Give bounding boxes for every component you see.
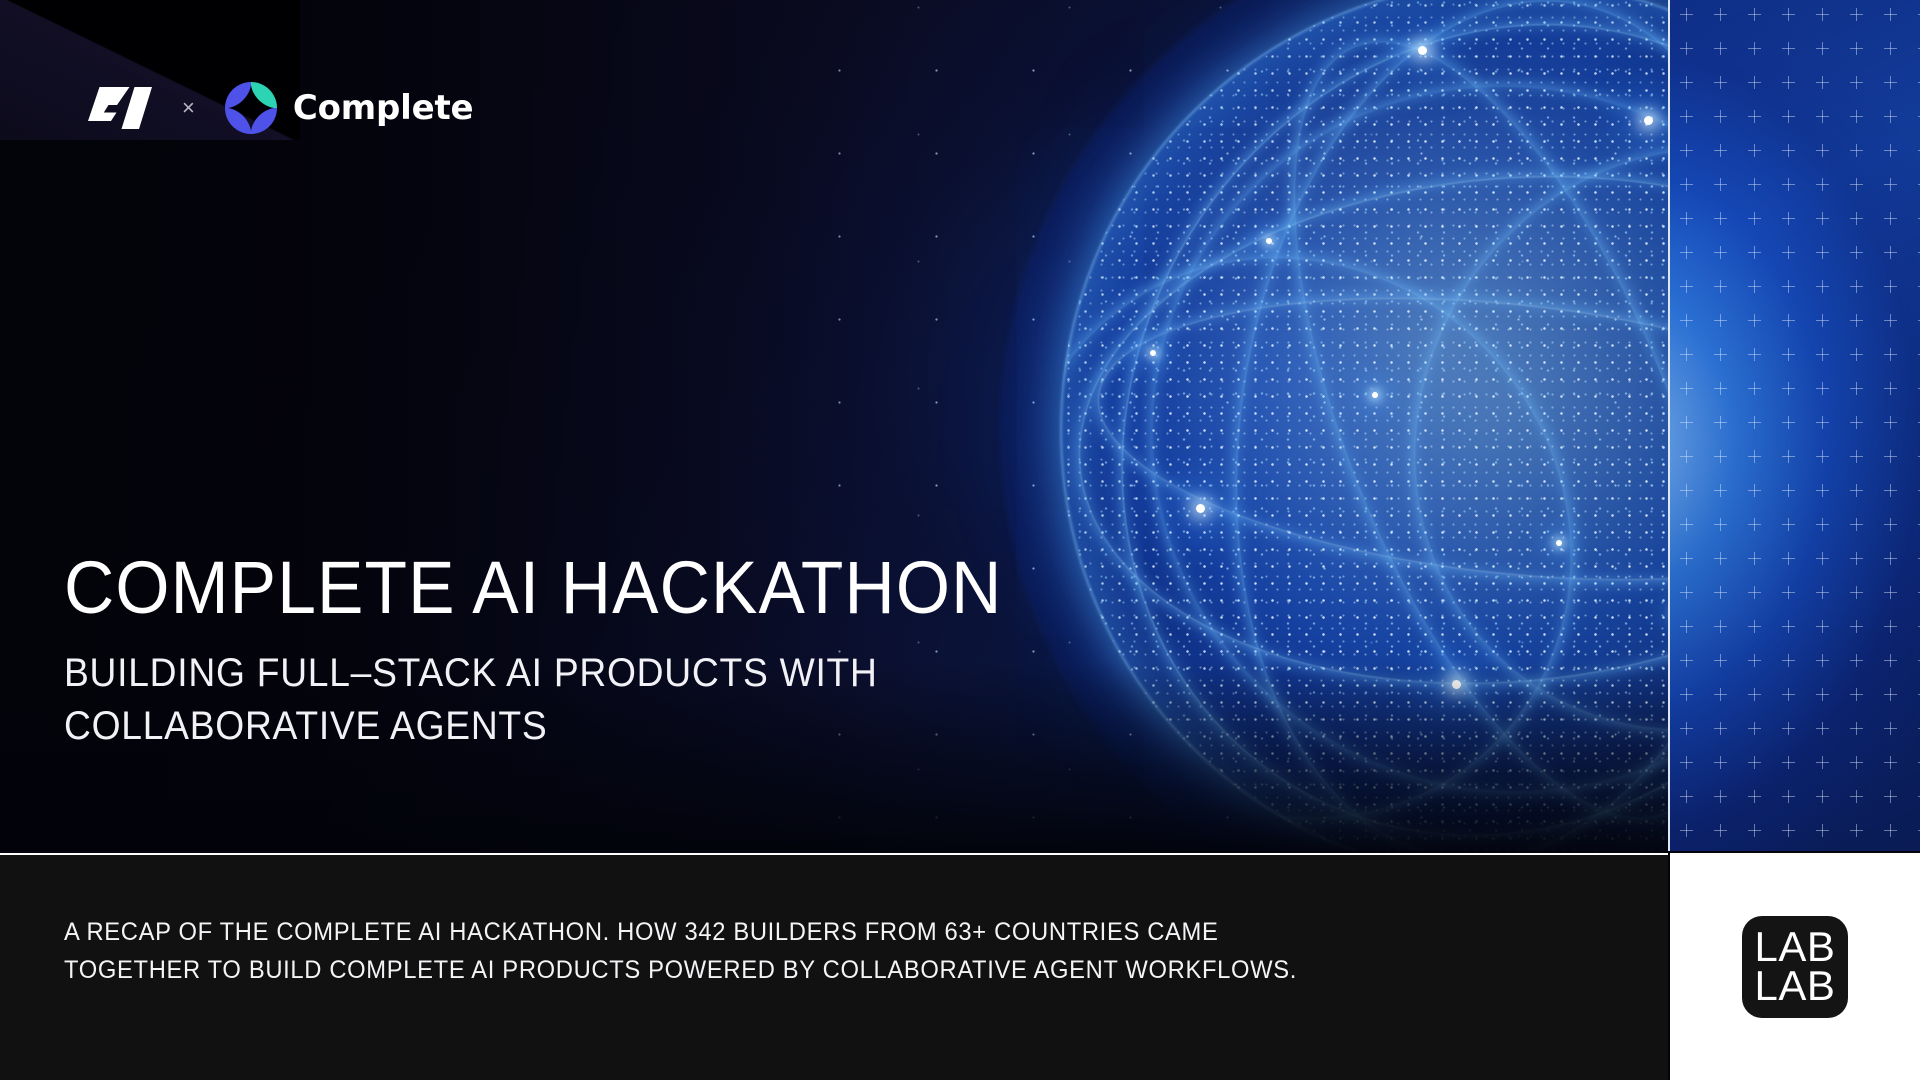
plus-icon (1782, 586, 1795, 599)
plus-icon (1714, 76, 1727, 89)
plus-icon (1748, 178, 1761, 191)
plus-icon (1850, 144, 1863, 157)
plus-icon (1850, 688, 1863, 701)
plus-icon (1714, 416, 1727, 429)
plus-icon (1714, 824, 1727, 837)
plus-icon (1816, 382, 1829, 395)
plus-icon (1714, 654, 1727, 667)
plus-icon (1782, 518, 1795, 531)
plus-icon (1680, 654, 1693, 667)
plus-icon (1884, 348, 1897, 361)
plus-icon (1782, 416, 1795, 429)
plus-icon (1816, 688, 1829, 701)
plus-icon (1816, 586, 1829, 599)
plus-icon (1816, 110, 1829, 123)
plus-icon (1850, 178, 1863, 191)
plus-icon (1816, 824, 1829, 837)
headline-block: COMPLETE AI HACKATHON BUILDING FULL–STAC… (64, 552, 1062, 754)
plus-icon (1680, 280, 1693, 293)
plus-icon (1850, 314, 1863, 327)
plus-icon (1714, 552, 1727, 565)
plus-icon (1884, 688, 1897, 701)
footer-logo-panel: LAB LAB (1670, 853, 1920, 1080)
plus-icon (1850, 8, 1863, 21)
plus-icon (1782, 824, 1795, 837)
plus-icon (1714, 620, 1727, 633)
plus-icon (1748, 212, 1761, 225)
plus-icon (1680, 450, 1693, 463)
plus-icon (1850, 586, 1863, 599)
plus-icon (1748, 518, 1761, 531)
plus-icon (1714, 382, 1727, 395)
plus-icon (1884, 722, 1897, 735)
plus-icon (1884, 450, 1897, 463)
plus-icon (1884, 756, 1897, 769)
sphere-node (1418, 46, 1427, 55)
plus-icon (1816, 246, 1829, 259)
plus-icon (1714, 688, 1727, 701)
complete-wordmark: Complete (293, 88, 474, 128)
plus-icon (1884, 824, 1897, 837)
plus-icon (1850, 416, 1863, 429)
plus-icon (1680, 8, 1693, 21)
plus-icon (1714, 450, 1727, 463)
plus-icon (1680, 416, 1693, 429)
plus-icon (1884, 212, 1897, 225)
plus-icon (1850, 76, 1863, 89)
plus-icon (1816, 42, 1829, 55)
plus-icon (1884, 620, 1897, 633)
plus-icon (1782, 790, 1795, 803)
plus-icon (1714, 246, 1727, 259)
plus-icon (1680, 314, 1693, 327)
plus-icon (1748, 42, 1761, 55)
plus-icon (1782, 382, 1795, 395)
plus-icon (1850, 518, 1863, 531)
particle-sphere-artwork (1000, 0, 1668, 851)
sphere-node (1452, 680, 1461, 689)
complete-star-circle-icon (225, 82, 277, 134)
footer-caption-bar: A RECAP OF THE COMPLETE AI HACKATHON. HO… (0, 853, 1668, 1080)
plus-icon (1748, 8, 1761, 21)
plus-icon (1782, 722, 1795, 735)
sphere-node (1266, 238, 1272, 244)
plus-icon (1884, 110, 1897, 123)
plus-icon (1748, 314, 1761, 327)
plus-icon (1782, 42, 1795, 55)
plus-icon (1714, 756, 1727, 769)
plus-icon (1850, 110, 1863, 123)
poster-subtitle: BUILDING FULL–STACK AI PRODUCTS WITH COL… (64, 647, 992, 754)
plus-icon (1782, 144, 1795, 157)
plus-icon (1714, 348, 1727, 361)
plus-icon (1816, 8, 1829, 21)
plus-icon (1748, 722, 1761, 735)
plus-icon (1884, 144, 1897, 157)
plus-icon (1748, 654, 1761, 667)
plus-icon (1816, 450, 1829, 463)
plus-icon (1748, 246, 1761, 259)
plus-icon (1782, 314, 1795, 327)
plus-icon (1748, 382, 1761, 395)
plus-icon (1884, 76, 1897, 89)
subtitle-line-1: BUILDING FULL–STACK AI PRODUCTS WITH (64, 647, 992, 701)
plus-icon (1884, 518, 1897, 531)
footer-caption-line-1: A RECAP OF THE COMPLETE AI HACKATHON. HO… (64, 913, 1297, 951)
plus-icon (1680, 586, 1693, 599)
complete-logo-lockup[interactable]: Complete (225, 82, 474, 134)
plus-icon (1714, 314, 1727, 327)
plus-icon (1748, 416, 1761, 429)
plus-icon (1850, 280, 1863, 293)
plus-icon (1748, 586, 1761, 599)
plus-icon (1816, 484, 1829, 497)
plus-icon (1850, 450, 1863, 463)
plus-icon (1680, 756, 1693, 769)
plus-icon (1680, 42, 1693, 55)
plus-icon (1748, 348, 1761, 361)
sphere-node (1556, 540, 1562, 546)
plus-icon (1816, 620, 1829, 633)
plus-icon (1884, 382, 1897, 395)
plus-icon (1714, 722, 1727, 735)
plus-icon (1680, 76, 1693, 89)
plus-icon (1748, 450, 1761, 463)
plus-icon (1884, 178, 1897, 191)
plus-icon (1782, 620, 1795, 633)
plus-icon (1850, 212, 1863, 225)
plus-icon (1850, 620, 1863, 633)
hackathon-recap-poster: × (0, 0, 1920, 1080)
plus-icon (1748, 144, 1761, 157)
plus-icon (1748, 824, 1761, 837)
plus-icon (1714, 586, 1727, 599)
plus-icon (1714, 280, 1727, 293)
plus-icon (1714, 212, 1727, 225)
plus-icon (1850, 348, 1863, 361)
plus-icon (1884, 484, 1897, 497)
plus-cross-grid (1670, 0, 1920, 851)
plus-icon (1782, 756, 1795, 769)
plus-icon (1714, 110, 1727, 123)
subtitle-line-2: COLLABORATIVE AGENTS (64, 700, 992, 754)
plus-icon (1680, 484, 1693, 497)
plus-icon (1850, 824, 1863, 837)
lablab-logo[interactable]: LAB LAB (1742, 916, 1848, 1018)
plus-icon (1782, 450, 1795, 463)
plus-icon (1748, 756, 1761, 769)
plus-icon (1680, 620, 1693, 633)
plus-icon (1850, 484, 1863, 497)
plus-icon (1782, 178, 1795, 191)
plus-icon (1816, 212, 1829, 225)
plus-icon (1680, 722, 1693, 735)
plus-icon (1680, 178, 1693, 191)
plus-icon (1850, 722, 1863, 735)
brand-lockup: × (88, 82, 473, 134)
plus-icon (1816, 756, 1829, 769)
plus-icon (1884, 790, 1897, 803)
plus-icon (1816, 178, 1829, 191)
plus-icon (1884, 314, 1897, 327)
sphere-node (1372, 392, 1378, 398)
plus-icon (1816, 280, 1829, 293)
plus-icon (1748, 76, 1761, 89)
footer-caption-line-2: TOGETHER TO BUILD COMPLETE AI PRODUCTS P… (64, 951, 1297, 989)
plus-icon (1748, 552, 1761, 565)
lablab-line-2: LAB (1755, 967, 1836, 1006)
plus-icon (1748, 688, 1761, 701)
plus-icon (1816, 416, 1829, 429)
plus-icon (1850, 654, 1863, 667)
plus-icon (1782, 76, 1795, 89)
plus-icon (1714, 178, 1727, 191)
plus-icon (1884, 8, 1897, 21)
poster-title: COMPLETE AI HACKATHON (64, 552, 1002, 625)
plus-icon (1782, 212, 1795, 225)
plus-icon (1748, 484, 1761, 497)
plus-icon (1816, 654, 1829, 667)
plus-icon (1884, 654, 1897, 667)
hero-section: × (0, 0, 1668, 851)
plus-icon (1816, 790, 1829, 803)
plus-icon (1680, 790, 1693, 803)
plus-icon (1850, 756, 1863, 769)
plus-icon (1748, 280, 1761, 293)
plus-icon (1884, 552, 1897, 565)
plus-icon (1680, 144, 1693, 157)
plus-icon (1884, 42, 1897, 55)
lablab-line-1: LAB (1755, 928, 1836, 967)
plus-icon (1680, 382, 1693, 395)
plus-icon (1884, 280, 1897, 293)
plus-icon (1782, 110, 1795, 123)
plus-icon (1782, 246, 1795, 259)
plus-icon (1782, 688, 1795, 701)
plus-icon (1816, 76, 1829, 89)
plus-icon (1782, 348, 1795, 361)
plus-icon (1850, 42, 1863, 55)
plus-icon (1714, 518, 1727, 531)
plus-icon (1680, 348, 1693, 361)
sphere-node (1196, 504, 1205, 513)
sphere-node (1150, 350, 1156, 356)
cross-separator-icon: × (178, 97, 199, 119)
plus-icon (1714, 8, 1727, 21)
plus-icon (1850, 790, 1863, 803)
right-accent-panel (1668, 0, 1920, 851)
plus-icon (1816, 552, 1829, 565)
plus-icon (1850, 246, 1863, 259)
plus-icon (1714, 484, 1727, 497)
plus-icon (1714, 790, 1727, 803)
plus-icon (1782, 484, 1795, 497)
plus-icon (1714, 144, 1727, 157)
plus-icon (1748, 110, 1761, 123)
plus-icon (1714, 42, 1727, 55)
plus-icon (1782, 280, 1795, 293)
plus-icon (1680, 552, 1693, 565)
plus-icon (1884, 416, 1897, 429)
footer-caption: A RECAP OF THE COMPLETE AI HACKATHON. HO… (64, 913, 1297, 989)
plus-icon (1748, 620, 1761, 633)
plus-icon (1816, 518, 1829, 531)
plus-icon (1884, 586, 1897, 599)
plus-icon (1680, 110, 1693, 123)
plus-icon (1816, 314, 1829, 327)
plus-icon (1680, 518, 1693, 531)
plus-icon (1884, 246, 1897, 259)
plus-icon (1850, 382, 1863, 395)
sphere-node (1644, 116, 1653, 125)
plus-icon (1816, 722, 1829, 735)
plus-icon (1782, 654, 1795, 667)
plus-icon (1782, 552, 1795, 565)
plus-icon (1680, 246, 1693, 259)
plus-icon (1680, 212, 1693, 225)
partner-n-icon[interactable] (88, 87, 152, 129)
plus-icon (1816, 348, 1829, 361)
plus-icon (1850, 552, 1863, 565)
plus-icon (1782, 8, 1795, 21)
plus-icon (1680, 824, 1693, 837)
plus-icon (1748, 790, 1761, 803)
plus-icon (1816, 144, 1829, 157)
plus-icon (1680, 688, 1693, 701)
